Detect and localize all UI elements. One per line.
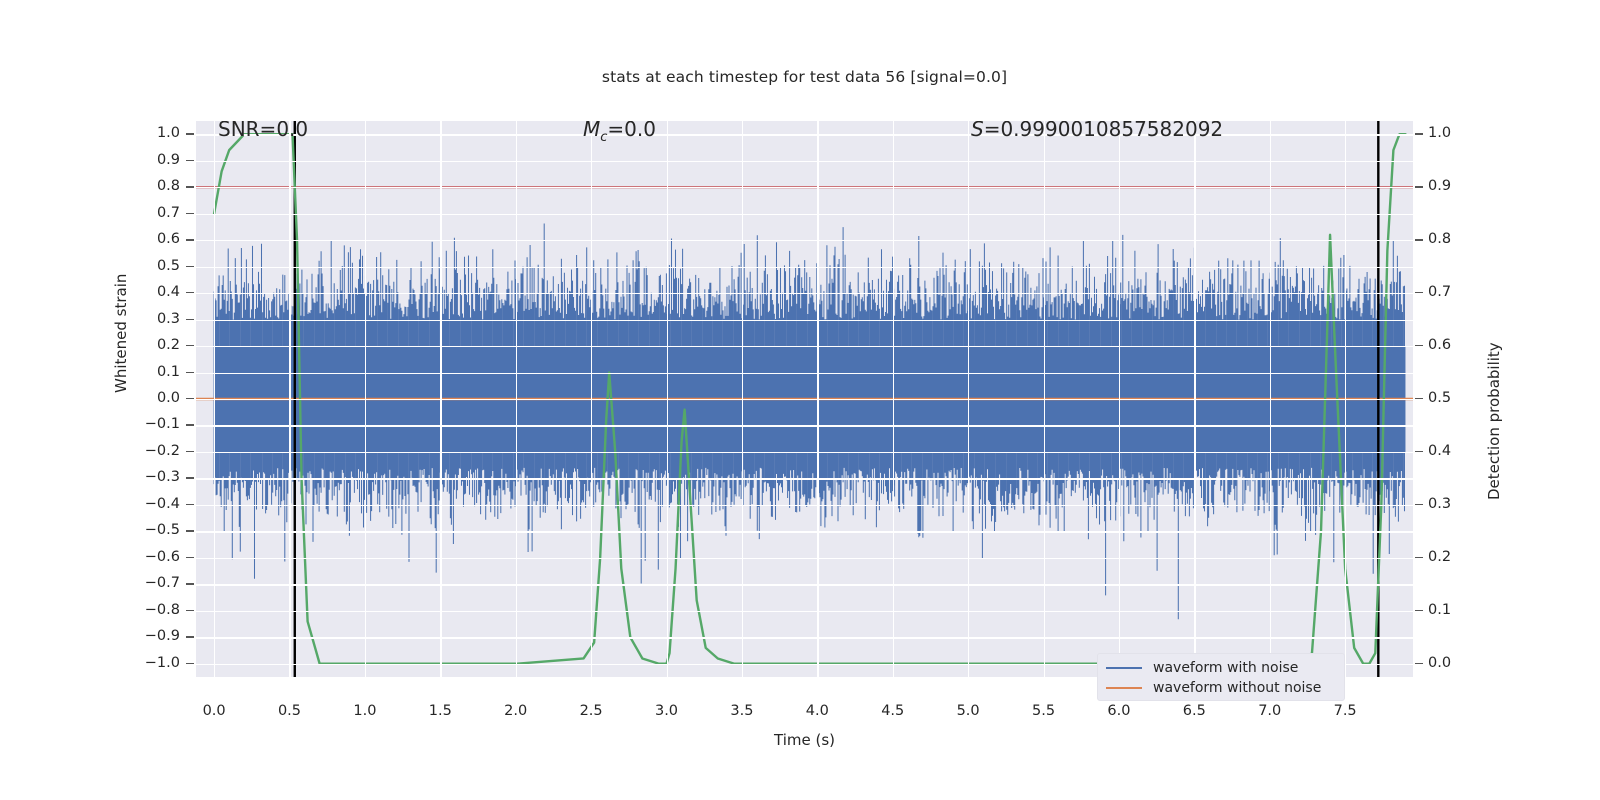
y-axis-right-tick-mark bbox=[1415, 186, 1423, 187]
grid-line-horizontal bbox=[196, 293, 1413, 294]
grid-line-horizontal bbox=[196, 584, 1413, 585]
y-axis-left-tick-label: −0.7 bbox=[124, 575, 180, 591]
y-axis-left-tick-mark bbox=[186, 398, 194, 399]
y-axis-left-tick-mark bbox=[186, 477, 194, 478]
legend-item: waveform without noise bbox=[1106, 678, 1336, 698]
grid-line-vertical bbox=[817, 121, 818, 677]
y-axis-left-tick-label: −0.3 bbox=[124, 469, 180, 485]
x-axis-tick-label: 7.5 bbox=[1310, 703, 1380, 719]
legend-label: waveform with noise bbox=[1153, 660, 1298, 676]
legend: waveform with noise waveform without noi… bbox=[1097, 653, 1345, 701]
y-axis-right-tick-mark bbox=[1415, 557, 1423, 558]
y-axis-right-tick-mark bbox=[1415, 239, 1423, 240]
y-axis-left-tick-label: −0.4 bbox=[124, 496, 180, 512]
annotation-score: S=0.9990010857582092 bbox=[971, 121, 1223, 141]
y-axis-left-tick-mark bbox=[186, 292, 194, 293]
x-axis-tick-label: 4.0 bbox=[782, 703, 852, 719]
y-axis-left-tick-mark bbox=[186, 557, 194, 558]
y-axis-right-tick-mark bbox=[1415, 133, 1423, 134]
y-axis-right-label: Detection probability bbox=[1485, 342, 1503, 500]
x-axis-tick-label: 5.0 bbox=[933, 703, 1003, 719]
grid-line-vertical bbox=[365, 121, 366, 677]
x-axis-tick-label: 3.5 bbox=[707, 703, 777, 719]
x-axis-tick-label: 0.0 bbox=[179, 703, 249, 719]
y-axis-left-tick-label: −0.5 bbox=[124, 522, 180, 538]
grid-line-vertical bbox=[893, 121, 894, 677]
y-axis-left-tick-label: 0.7 bbox=[124, 205, 180, 221]
grid-line-horizontal bbox=[196, 214, 1413, 215]
chart-title: stats at each timestep for test data 56 … bbox=[196, 68, 1413, 86]
y-axis-left-tick-label: −0.1 bbox=[124, 416, 180, 432]
x-axis-tick-label: 6.5 bbox=[1159, 703, 1229, 719]
x-axis-tick-label: 4.5 bbox=[858, 703, 928, 719]
y-axis-left-tick-mark bbox=[186, 504, 194, 505]
grid-line-horizontal bbox=[196, 637, 1413, 638]
y-axis-left-tick-label: −0.2 bbox=[124, 443, 180, 459]
y-axis-left-tick-label: 0.3 bbox=[124, 311, 180, 327]
y-axis-right-tick-label: 0.5 bbox=[1428, 390, 1488, 406]
x-axis-tick-label: 2.0 bbox=[481, 703, 551, 719]
grid-line-horizontal bbox=[196, 320, 1413, 321]
y-axis-left-tick-mark bbox=[186, 345, 194, 346]
y-axis-left-tick-mark bbox=[186, 424, 194, 425]
grid-line-horizontal bbox=[196, 611, 1413, 612]
grid-line-horizontal bbox=[196, 240, 1413, 241]
grid-line-vertical bbox=[516, 121, 517, 677]
y-axis-left-tick-mark bbox=[186, 133, 194, 134]
y-axis-left-tick-mark bbox=[186, 372, 194, 373]
y-axis-left-tick-mark bbox=[186, 663, 194, 664]
grid-line-horizontal bbox=[196, 558, 1413, 559]
y-axis-left-tick-label: 0.8 bbox=[124, 178, 180, 194]
y-axis-left-tick-mark bbox=[186, 610, 194, 611]
y-axis-right-tick-label: 0.8 bbox=[1428, 231, 1488, 247]
y-axis-right-tick-mark bbox=[1415, 610, 1423, 611]
y-axis-left-tick-label: 0.2 bbox=[124, 337, 180, 353]
grid-line-vertical bbox=[289, 121, 290, 677]
grid-line-vertical bbox=[1345, 121, 1346, 677]
annotation-snr: SNR=0.0 bbox=[218, 121, 308, 141]
y-axis-left-tick-label: 1.0 bbox=[124, 125, 180, 141]
y-axis-left-tick-mark bbox=[186, 583, 194, 584]
grid-line-vertical bbox=[742, 121, 743, 677]
y-axis-right-tick-label: 1.0 bbox=[1428, 125, 1488, 141]
y-axis-left-tick-label: 0.9 bbox=[124, 152, 180, 168]
y-axis-left-tick-label: −0.6 bbox=[124, 549, 180, 565]
grid-line-vertical bbox=[1044, 121, 1045, 677]
annotation-mc-symbol: M bbox=[583, 121, 600, 141]
y-axis-left-tick-label: −0.9 bbox=[124, 628, 180, 644]
annotation-chirp-mass: Mc=0.0 bbox=[583, 121, 656, 145]
grid-line-vertical bbox=[1119, 121, 1120, 677]
y-axis-right-tick-mark bbox=[1415, 398, 1423, 399]
y-axis-left-tick-label: −0.8 bbox=[124, 602, 180, 618]
y-axis-right-tick-mark bbox=[1415, 504, 1423, 505]
y-axis-left-tick-mark bbox=[186, 636, 194, 637]
grid-line-horizontal bbox=[196, 346, 1413, 347]
y-axis-left-tick-label: 0.4 bbox=[124, 284, 180, 300]
grid-line-horizontal bbox=[196, 399, 1413, 400]
y-axis-right-tick-mark bbox=[1415, 663, 1423, 664]
y-axis-right-tick-label: 0.1 bbox=[1428, 602, 1488, 618]
waveform-with-noise-series bbox=[214, 224, 1405, 620]
legend-item: waveform with noise bbox=[1106, 658, 1336, 678]
x-axis-tick-label: 1.5 bbox=[405, 703, 475, 719]
annotation-s-value: =0.9990010857582092 bbox=[984, 121, 1223, 141]
grid-line-vertical bbox=[1270, 121, 1271, 677]
grid-line-horizontal bbox=[196, 267, 1413, 268]
y-axis-left-tick-label: 0.6 bbox=[124, 231, 180, 247]
legend-swatch-waveform-with-noise bbox=[1106, 667, 1142, 669]
y-axis-right-tick-label: 0.2 bbox=[1428, 549, 1488, 565]
y-axis-right-tick-label: 0.3 bbox=[1428, 496, 1488, 512]
x-axis-tick-label: 5.5 bbox=[1009, 703, 1079, 719]
y-axis-left-tick-mark bbox=[186, 160, 194, 161]
y-axis-right-tick-mark bbox=[1415, 345, 1423, 346]
y-axis-left-tick-mark bbox=[186, 451, 194, 452]
grid-line-vertical bbox=[214, 121, 215, 677]
grid-line-vertical bbox=[591, 121, 592, 677]
grid-line-horizontal bbox=[196, 134, 1413, 135]
grid-line-horizontal bbox=[196, 478, 1413, 479]
x-axis-tick-label: 2.5 bbox=[556, 703, 626, 719]
annotation-snr-label: SNR= bbox=[218, 121, 276, 141]
grid-line-horizontal bbox=[196, 373, 1413, 374]
legend-label: waveform without noise bbox=[1153, 680, 1321, 696]
grid-line-horizontal bbox=[196, 425, 1413, 426]
y-axis-right-tick-label: 0.6 bbox=[1428, 337, 1488, 353]
annotation-s-symbol: S bbox=[971, 121, 984, 141]
y-axis-right-tick-mark bbox=[1415, 292, 1423, 293]
x-axis-tick-label: 3.0 bbox=[632, 703, 702, 719]
y-axis-left-tick-label: −1.0 bbox=[124, 655, 180, 671]
y-axis-right-tick-label: 0.0 bbox=[1428, 655, 1488, 671]
x-axis-tick-label: 1.0 bbox=[330, 703, 400, 719]
y-axis-left-tick-mark bbox=[186, 266, 194, 267]
x-axis-tick-label: 7.0 bbox=[1235, 703, 1305, 719]
y-axis-right-tick-label: 0.7 bbox=[1428, 284, 1488, 300]
grid-line-horizontal bbox=[196, 452, 1413, 453]
y-axis-left-tick-label: 0.5 bbox=[124, 258, 180, 274]
grid-line-vertical bbox=[1194, 121, 1195, 677]
y-axis-left-tick-label: 0.1 bbox=[124, 364, 180, 380]
y-axis-right-tick-label: 0.4 bbox=[1428, 443, 1488, 459]
y-axis-left-tick-mark bbox=[186, 213, 194, 214]
legend-swatch-waveform-without-noise bbox=[1106, 687, 1142, 689]
y-axis-right-tick-mark bbox=[1415, 451, 1423, 452]
figure-canvas: stats at each timestep for test data 56 … bbox=[0, 0, 1600, 800]
annotation-snr-value: 0.0 bbox=[276, 121, 308, 141]
y-axis-left-tick-mark bbox=[186, 239, 194, 240]
grid-line-vertical bbox=[440, 121, 441, 677]
y-axis-left-tick-mark bbox=[186, 530, 194, 531]
grid-line-vertical bbox=[667, 121, 668, 677]
y-axis-left-tick-mark bbox=[186, 186, 194, 187]
annotation-mc-value: =0.0 bbox=[607, 121, 656, 141]
grid-line-horizontal bbox=[196, 531, 1413, 532]
x-axis-label: Time (s) bbox=[196, 731, 1413, 749]
y-axis-right-tick-label: 0.9 bbox=[1428, 178, 1488, 194]
plot-area: SNR=0.0 Mc=0.0 S=0.9990010857582092 bbox=[196, 121, 1413, 677]
x-axis-tick-label: 6.0 bbox=[1084, 703, 1154, 719]
grid-line-horizontal bbox=[196, 505, 1413, 506]
x-axis-tick-label: 0.5 bbox=[254, 703, 324, 719]
grid-line-horizontal bbox=[196, 187, 1413, 188]
y-axis-left-tick-label: 0.0 bbox=[124, 390, 180, 406]
y-axis-left-tick-mark bbox=[186, 319, 194, 320]
grid-line-vertical bbox=[968, 121, 969, 677]
grid-line-horizontal bbox=[196, 161, 1413, 162]
